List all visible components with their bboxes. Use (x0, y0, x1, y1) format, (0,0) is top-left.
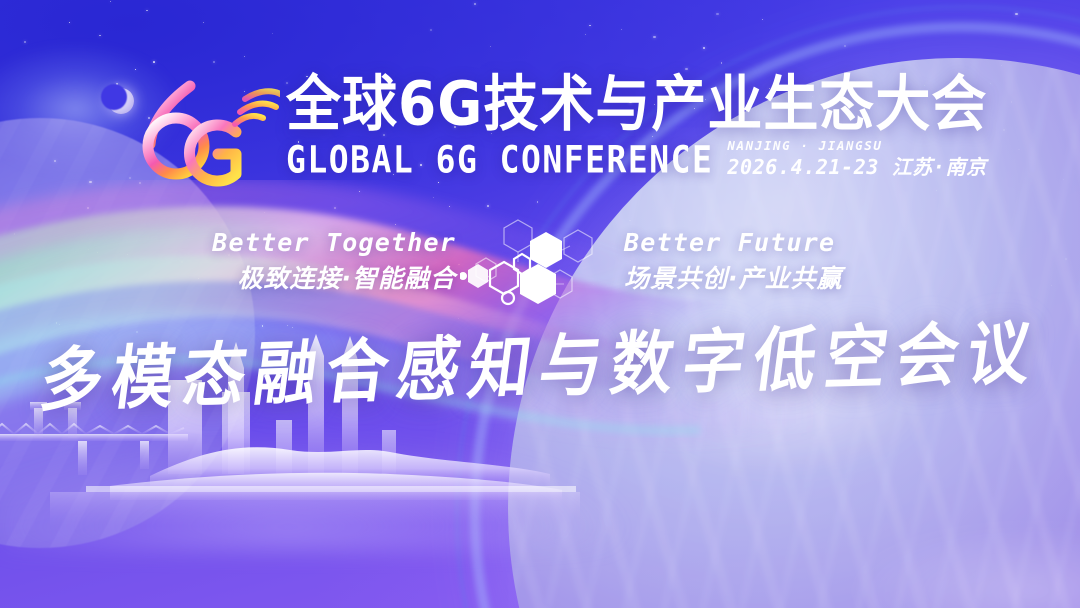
headline-row: 多模态融合感知与数字低空会议 (0, 330, 1080, 403)
conference-banner: 全球6G技术与产业生态大会 GLOBAL 6G CONFERENCE NANJI… (0, 0, 1080, 608)
location-english: NANJING · JIANGSU (727, 140, 986, 153)
tagline-left-cn: 极致连接·智能融合 (166, 266, 456, 291)
page-title: 全球6G技术与产业生态大会 (286, 74, 987, 135)
main-headline: 多模态融合感知与数字低空会议 (36, 312, 1045, 422)
tagline-row: Better Together 极致连接·智能融合 (0, 214, 1080, 306)
6g-wifi-signal-logo (132, 72, 280, 188)
tagline-right-en: Better Future (624, 230, 914, 255)
tagline-right-cn: 场景共创·产业共赢 (624, 266, 914, 291)
tagline-left-en: Better Together (166, 230, 456, 255)
hexagon-cluster-icon (460, 214, 620, 306)
title-block: 全球6G技术与产业生态大会 GLOBAL 6G CONFERENCE NANJI… (286, 72, 987, 178)
date-location-block: NANJING · JIANGSU 2026.4.21-23 江苏·南京 (727, 140, 986, 178)
tagline-left: Better Together 极致连接·智能融合 (166, 230, 456, 291)
title-english: GLOBAL 6G CONFERENCE (286, 141, 713, 178)
tagline-right: Better Future 场景共创·产业共赢 (624, 230, 914, 291)
banner-header: 全球6G技术与产业生态大会 GLOBAL 6G CONFERENCE NANJI… (132, 72, 987, 188)
date-line: 2026.4.21-23 江苏·南京 (727, 157, 986, 177)
